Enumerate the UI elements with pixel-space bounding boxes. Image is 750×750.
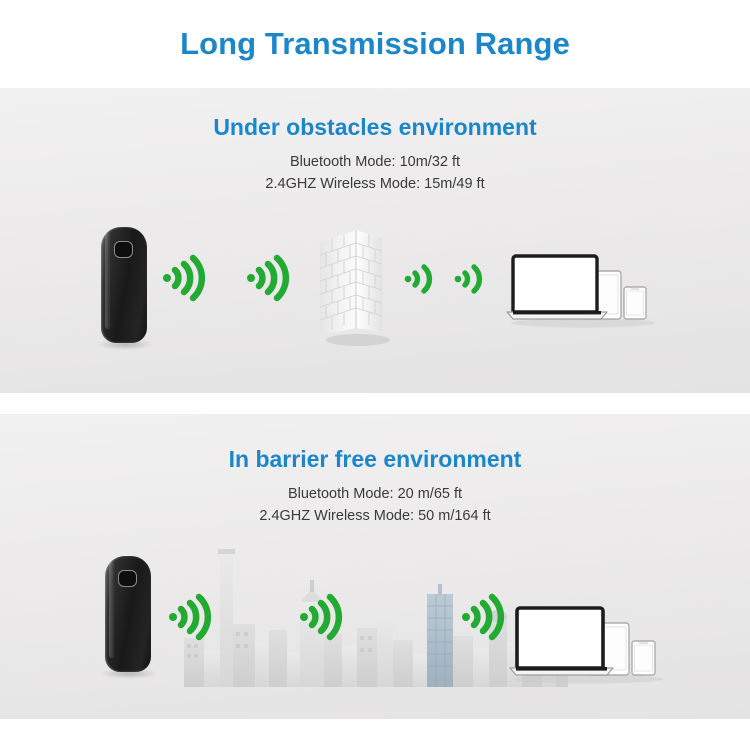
scanner-window: [114, 241, 133, 258]
brick-wall-icon: [318, 228, 394, 348]
scene-obstacles: [0, 88, 750, 393]
scanner-window: [118, 570, 137, 587]
smartphone-icon: [632, 641, 655, 675]
device-group-barrier-free: [508, 601, 673, 686]
page-header: Long Transmission Range: [0, 0, 750, 88]
laptop-icon: [510, 608, 613, 675]
wifi-signal-icon: [461, 594, 509, 640]
laptop-icon: [507, 256, 607, 319]
wifi-signal-icon: [404, 264, 438, 294]
device-group-obstacles: [505, 249, 665, 329]
panel-under-obstacles: Under obstacles environment Bluetooth Mo…: [0, 88, 750, 393]
wifi-signal-icon: [162, 255, 210, 301]
wifi-signal-icon: [168, 594, 216, 640]
wifi-signal-icon: [246, 255, 294, 301]
barcode-scanner-icon: [105, 556, 151, 672]
barcode-scanner-icon: [101, 227, 147, 343]
smartphone-icon: [624, 287, 646, 319]
page-title: Long Transmission Range: [180, 26, 570, 62]
wifi-signal-icon: [454, 264, 488, 294]
scene-barrier-free: [0, 414, 750, 719]
wifi-signal-icon: [299, 594, 347, 640]
panel-barrier-free: In barrier free environment Bluetooth Mo…: [0, 414, 750, 719]
